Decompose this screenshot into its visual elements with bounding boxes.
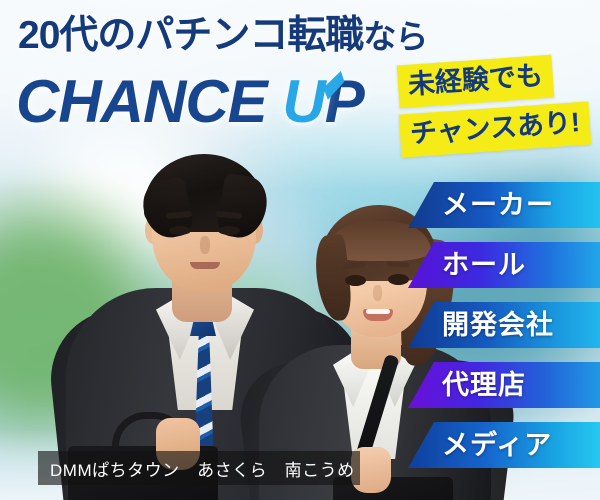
category-tag-hall[interactable]: ホール xyxy=(408,242,600,288)
headline-suffix: なら xyxy=(363,18,427,55)
category-tag-label: メディア xyxy=(442,432,552,459)
category-tag-media[interactable]: メディア xyxy=(408,422,600,468)
woman-teeth xyxy=(366,309,390,314)
woman-eye-left xyxy=(345,275,366,286)
category-tag-agency[interactable]: 代理店 xyxy=(408,362,600,408)
caption-bar: DMMぱちタウン あさくら 南こうめ xyxy=(38,451,360,485)
man-eye-right xyxy=(218,226,240,235)
category-tag-maker[interactable]: メーカー xyxy=(408,182,600,228)
man-nose xyxy=(200,236,210,254)
promo-badge-line-2: チャンスあり! xyxy=(399,101,592,157)
logotype-chance-up: CHANCE UP xyxy=(16,72,436,132)
category-tag-development-company[interactable]: 開発会社 xyxy=(408,302,600,348)
advertisement-banner[interactable]: 20代のパチンコ転職なら CHANCE UP 未経験でも チャンスあり! メーカ… xyxy=(0,0,600,500)
category-tag-label: 開発会社 xyxy=(442,312,554,339)
caption-text: DMMぱちタウン あさくら 南こうめ xyxy=(50,456,355,481)
woman-eye-right xyxy=(388,274,409,285)
category-tag-label: ホール xyxy=(442,252,526,279)
headline-main: 20代のパチンコ転職 xyxy=(18,14,363,57)
promo-badge: 未経験でも チャンスあり! xyxy=(398,58,594,158)
logotype-p: P xyxy=(325,68,364,135)
headline: 20代のパチンコ転職なら xyxy=(18,16,438,55)
man-eye-left xyxy=(169,226,191,235)
man-mouth xyxy=(190,262,220,269)
category-tag-label: メーカー xyxy=(442,192,554,219)
logotype-chance: CHANCE xyxy=(16,68,267,135)
woman-nose xyxy=(373,285,382,301)
category-tag-label: 代理店 xyxy=(442,372,526,399)
category-tag-list: メーカー ホール 開発会社 代理店 メディア xyxy=(408,182,600,482)
promo-badge-line-1: 未経験でも xyxy=(397,55,555,109)
logotype-u: U xyxy=(282,72,324,132)
